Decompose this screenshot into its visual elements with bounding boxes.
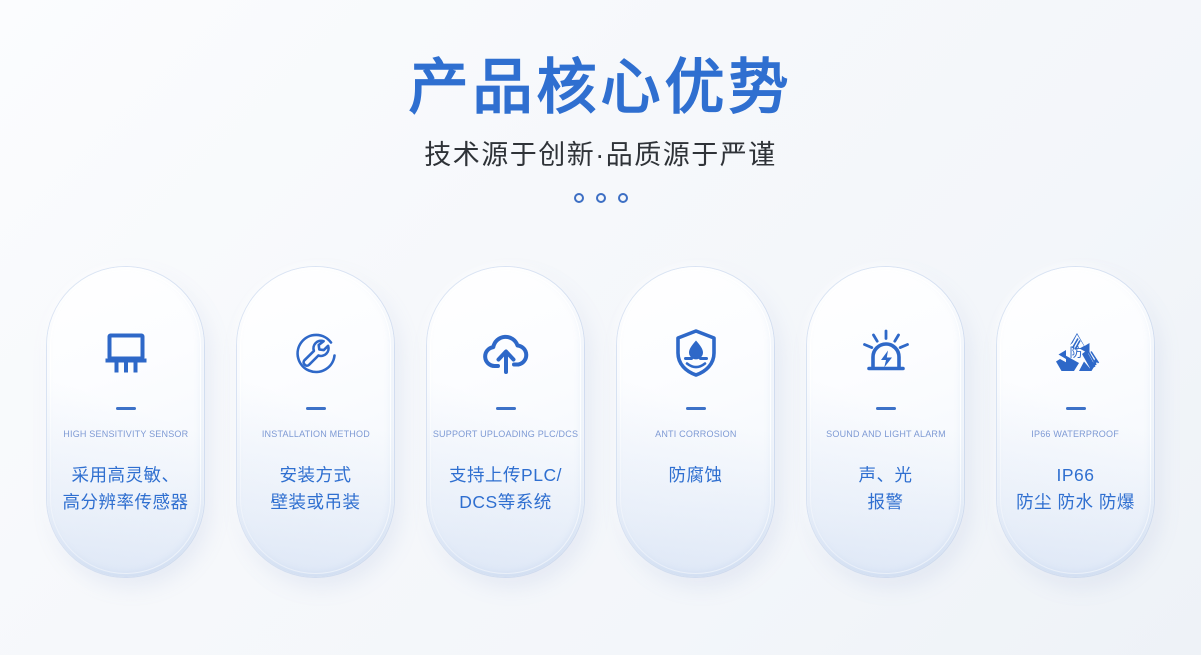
page-header: 产品核心优势 技术源于创新·品质源于严谨 bbox=[0, 0, 1201, 203]
dot-3 bbox=[618, 193, 628, 203]
card-divider bbox=[1066, 407, 1086, 410]
card-english-label: SOUND AND LIGHT ALARM bbox=[826, 429, 946, 440]
feature-card-high-sensitivity-sensor[interactable]: HIGH SENSITIVITY SENSOR 采用高灵敏、 高分辨率传感器 bbox=[47, 267, 204, 577]
card-english-label: ANTI CORROSION bbox=[655, 429, 736, 440]
card-chinese-text: 安装方式 壁装或吊装 bbox=[267, 462, 365, 516]
decorative-dots bbox=[0, 193, 1201, 203]
feature-card-installation-method[interactable]: INSTALLATION METHOD 安装方式 壁装或吊装 bbox=[237, 267, 394, 577]
cloud-upload-icon bbox=[478, 325, 534, 381]
card-english-label: HIGH SENSITIVITY SENSOR bbox=[63, 429, 188, 440]
card-divider bbox=[116, 407, 136, 410]
card-chinese-line: 安装方式 bbox=[271, 462, 361, 489]
recycle-protect-icon: 防 bbox=[1048, 325, 1104, 381]
card-chinese-text: 声、光 报警 bbox=[855, 462, 917, 516]
card-chinese-text: 支持上传PLC/ DCS等系统 bbox=[445, 462, 566, 516]
card-english-label: INSTALLATION METHOD bbox=[261, 429, 369, 440]
page-title: 产品核心优势 bbox=[0, 55, 1201, 121]
sensor-chip-icon bbox=[101, 325, 151, 381]
wrench-circle-icon bbox=[290, 325, 342, 381]
card-chinese-text: 防腐蚀 bbox=[665, 462, 727, 489]
card-chinese-line: DCS等系统 bbox=[449, 489, 562, 516]
recycle-icon-center-char: 防 bbox=[1069, 345, 1082, 360]
card-divider bbox=[496, 407, 516, 410]
feature-card-anti-corrosion[interactable]: ANTI CORROSION 防腐蚀 bbox=[617, 267, 774, 577]
card-english-label: SUPPORT UPLOADING PLC/DCS bbox=[433, 429, 578, 440]
shield-droplet-icon bbox=[672, 325, 720, 381]
page-subtitle: 技术源于创新·品质源于严谨 bbox=[0, 139, 1201, 171]
card-chinese-line: 防腐蚀 bbox=[669, 462, 723, 489]
card-chinese-line: 声、光 bbox=[859, 462, 913, 489]
card-chinese-text: 采用高灵敏、 高分辨率传感器 bbox=[59, 462, 193, 516]
card-chinese-line: 采用高灵敏、 bbox=[63, 462, 189, 489]
feature-card-ip66-waterproof[interactable]: 防 IP66 WATERPROOF IP66 防尘 防水 防爆 bbox=[997, 267, 1154, 577]
card-chinese-text: IP66 防尘 防水 防爆 bbox=[1012, 462, 1139, 516]
card-divider bbox=[306, 407, 326, 410]
card-chinese-line: 防尘 防水 防爆 bbox=[1016, 489, 1135, 516]
card-english-label: IP66 WATERPROOF bbox=[1032, 429, 1120, 440]
dot-1 bbox=[574, 193, 584, 203]
dot-2 bbox=[596, 193, 606, 203]
card-divider bbox=[876, 407, 896, 410]
feature-card-support-uploading[interactable]: SUPPORT UPLOADING PLC/DCS 支持上传PLC/ DCS等系… bbox=[427, 267, 584, 577]
feature-card-list: HIGH SENSITIVITY SENSOR 采用高灵敏、 高分辨率传感器 I… bbox=[0, 267, 1201, 577]
card-chinese-line: 高分辨率传感器 bbox=[63, 489, 189, 516]
alarm-siren-icon bbox=[858, 325, 914, 381]
card-divider bbox=[686, 407, 706, 410]
feature-card-sound-light-alarm[interactable]: SOUND AND LIGHT ALARM 声、光 报警 bbox=[807, 267, 964, 577]
card-chinese-line: IP66 bbox=[1016, 462, 1135, 489]
card-chinese-line: 支持上传PLC/ bbox=[449, 462, 562, 489]
card-chinese-line: 报警 bbox=[859, 489, 913, 516]
card-chinese-line: 壁装或吊装 bbox=[271, 489, 361, 516]
